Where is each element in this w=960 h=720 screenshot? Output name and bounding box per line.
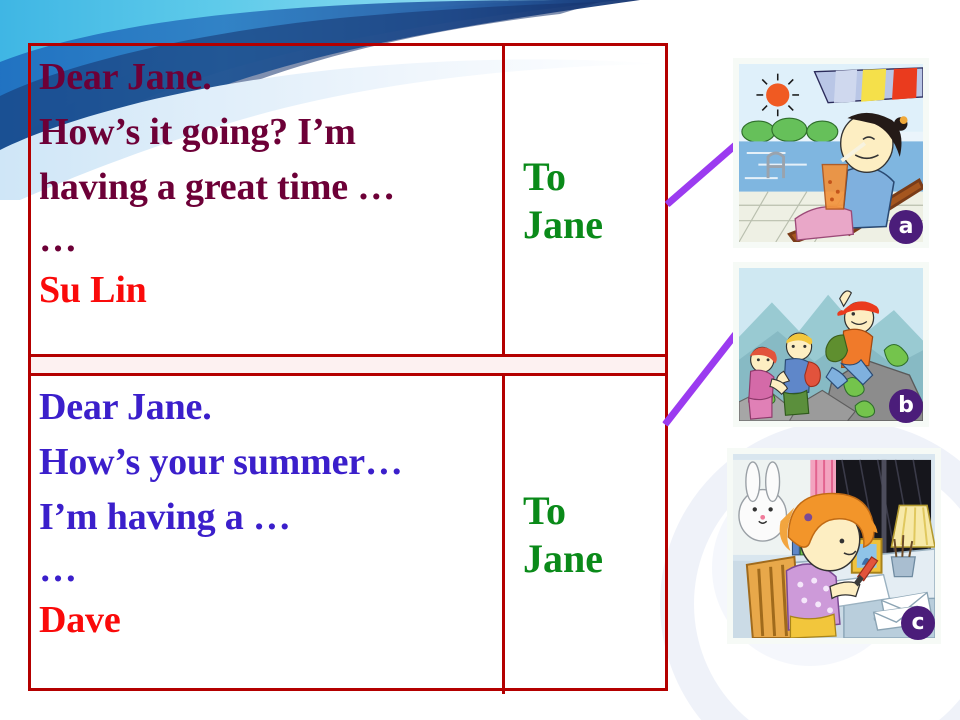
connector-line-a	[665, 142, 738, 207]
message-line: having a great time …	[39, 160, 502, 215]
table-row-divider	[31, 354, 665, 376]
address-line: Jane	[523, 201, 665, 249]
message-line-ellipsis: …	[39, 545, 502, 593]
table-row: Dear Jane. How’s your summer… I’m having…	[31, 376, 665, 694]
message-line: I’m having a …	[39, 490, 502, 545]
address-line: To	[523, 487, 665, 535]
postcard-address-cell-2: To Jane	[502, 376, 665, 694]
postcard-signature: Su Lin	[39, 263, 502, 318]
postcard-signature: Dave	[39, 593, 502, 648]
postcard-address-cell-1: To Jane	[502, 46, 665, 356]
message-line: Dear Jane.	[39, 380, 502, 435]
postcard-message-cell-2: Dear Jane. How’s your summer… I’m having…	[31, 376, 502, 694]
message-line: How’s it going? I’m	[39, 105, 502, 160]
message-line-ellipsis: …	[39, 215, 502, 263]
message-line: How’s your summer…	[39, 435, 502, 490]
address-line: Jane	[523, 535, 665, 583]
picture-c[interactable]: c	[727, 448, 941, 644]
connector-line-b	[662, 332, 738, 427]
message-line: Dear Jane.	[39, 50, 502, 105]
picture-a[interactable]: a	[733, 58, 929, 248]
picture-badge-c: c	[901, 606, 935, 640]
picture-badge-a: a	[889, 210, 923, 244]
picture-b[interactable]: b	[733, 262, 929, 427]
picture-badge-b: b	[889, 389, 923, 423]
table-row: Dear Jane. How’s it going? I’m having a …	[31, 46, 665, 356]
postcard-message-cell-1: Dear Jane. How’s it going? I’m having a …	[31, 46, 502, 356]
address-line: To	[523, 153, 665, 201]
slide-canvas: Dear Jane. How’s it going? I’m having a …	[0, 0, 960, 720]
postcards-table: Dear Jane. How’s it going? I’m having a …	[28, 43, 668, 691]
